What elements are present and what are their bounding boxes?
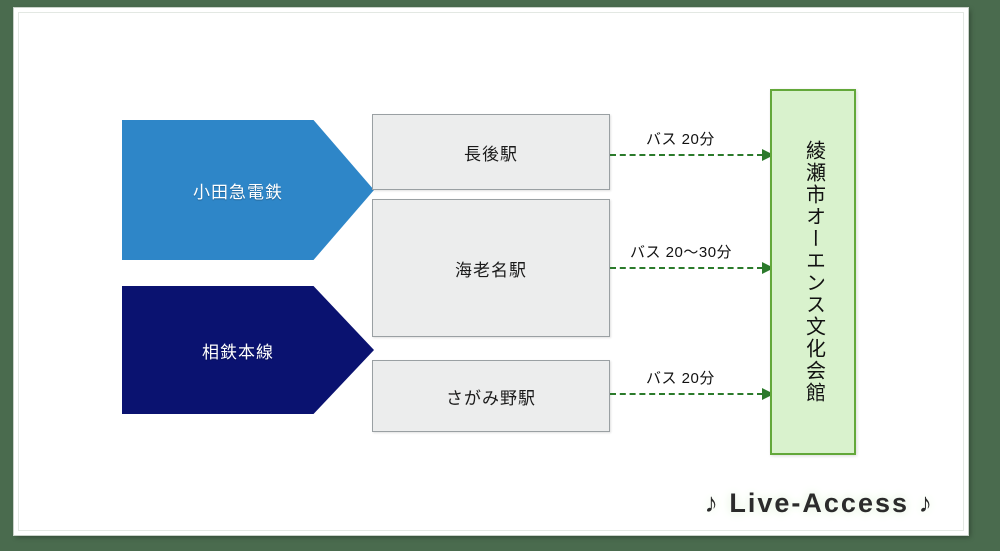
rail-line-sotetsu-label: 相鉄本線 bbox=[202, 338, 274, 363]
brand-logo: ♪ Live-Access ♪ bbox=[704, 480, 934, 526]
slide-frame: 小田急電鉄 相鉄本線 長後駅 海老名駅 さがみ野駅 バス 20分 バス 20〜3… bbox=[14, 8, 968, 535]
dashed-line-icon bbox=[610, 267, 763, 269]
bus-label-ebina: バス 20〜30分 bbox=[630, 241, 732, 262]
station-box-ebina[interactable]: 海老名駅 bbox=[372, 199, 610, 337]
diagram-canvas: 小田急電鉄 相鉄本線 長後駅 海老名駅 さがみ野駅 バス 20分 バス 20〜3… bbox=[14, 8, 968, 535]
bus-connector-ebina bbox=[610, 267, 774, 269]
station-box-chogo[interactable]: 長後駅 bbox=[372, 114, 610, 190]
station-label-ebina: 海老名駅 bbox=[455, 256, 527, 281]
station-box-sagamino[interactable]: さがみ野駅 bbox=[372, 360, 610, 432]
station-label-chogo: 長後駅 bbox=[464, 140, 518, 165]
bus-connector-chogo bbox=[610, 154, 774, 156]
station-label-sagamino: さがみ野駅 bbox=[446, 384, 536, 409]
rail-line-odakyu[interactable]: 小田急電鉄 bbox=[122, 120, 374, 260]
rail-line-odakyu-label: 小田急電鉄 bbox=[193, 178, 283, 203]
rail-line-sotetsu[interactable]: 相鉄本線 bbox=[122, 286, 374, 414]
dashed-line-icon bbox=[610, 393, 763, 395]
bus-label-chogo: バス 20分 bbox=[646, 128, 715, 149]
destination-label: 綾瀬市オーエンス文化会館 bbox=[803, 140, 824, 404]
destination-box[interactable]: 綾瀬市オーエンス文化会館 bbox=[770, 89, 856, 455]
dashed-line-icon bbox=[610, 154, 763, 156]
bus-connector-sagamino bbox=[610, 393, 774, 395]
bus-label-sagamino: バス 20分 bbox=[646, 367, 715, 388]
